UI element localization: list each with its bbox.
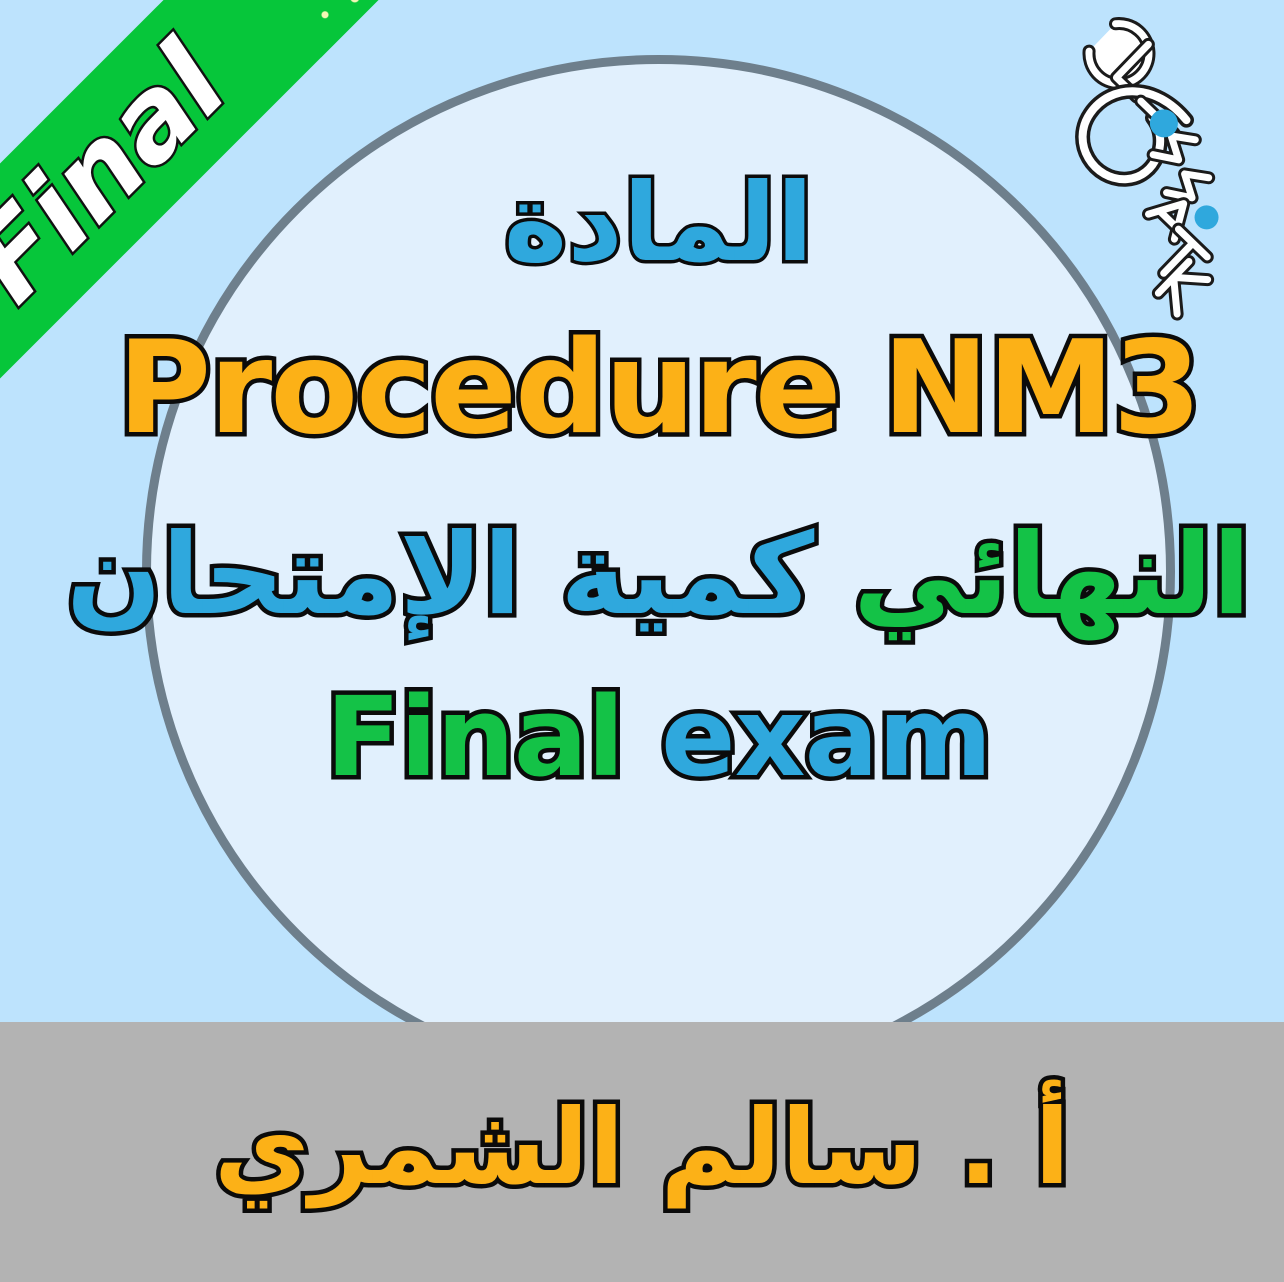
card-content: المادة Procedure NM3 النهائي كمية الإمتح… — [142, 55, 1175, 1088]
subject-label: المادة — [504, 167, 814, 280]
exam-scope-english-word-exam: exam — [661, 673, 991, 801]
course-title: Procedure NM3 — [117, 322, 1199, 456]
exam-scope-english-word-final: Final — [326, 673, 624, 801]
exam-scope-arabic: النهائي كمية الإمتحان — [66, 517, 1251, 635]
exam-scope-arabic-prefix: كمية الإمتحان — [66, 510, 814, 640]
exam-scope-arabic-accent: النهائي — [853, 510, 1251, 640]
teacher-name: أ . سالم الشمري — [0, 1090, 1284, 1204]
exam-scope-english: Final exam — [326, 680, 992, 796]
watermark-dot-lower — [1190, 200, 1224, 234]
exam-cover-card: المادة Procedure NM3 النهائي كمية الإمتح… — [0, 0, 1284, 1282]
